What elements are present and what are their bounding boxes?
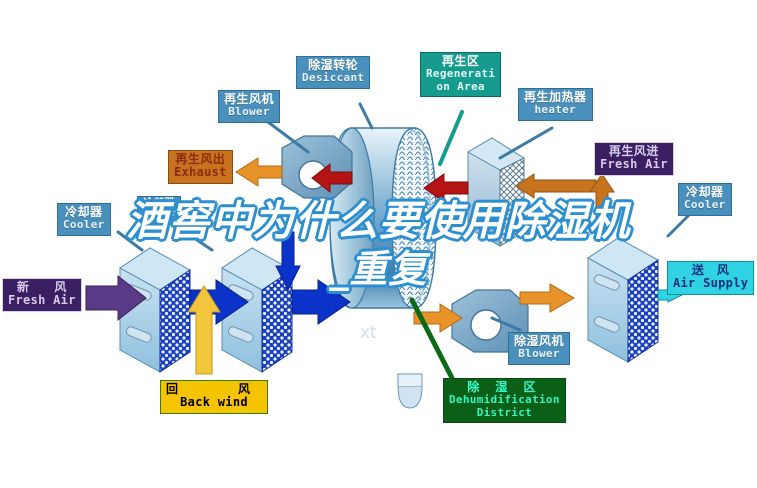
label-regeneration-heater[interactable]: 再生加热器 heater xyxy=(518,88,593,121)
label-dehumidification-blower[interactable]: 除湿风机 Blower xyxy=(508,332,570,365)
label-regeneration-exhaust[interactable]: 再生风出 Exhaust xyxy=(168,150,233,184)
label-cooler-left-2[interactable]: 冷却器 Cooler xyxy=(137,196,181,221)
label-back-wind-cn: 回 风 xyxy=(166,383,262,396)
label-cooler-left-1[interactable]: 冷却器 Cooler xyxy=(57,203,111,236)
label-regeneration-area[interactable]: 再生区 Regenerati on Area xyxy=(420,52,501,97)
label-heater-en: heater xyxy=(524,104,587,116)
label-exhaust-en: Exhaust xyxy=(174,166,227,179)
label-dehum-cn: 除 湿 区 xyxy=(449,381,560,394)
label-regeneration-fresh-air[interactable]: 再生风进 Fresh Air xyxy=(594,142,674,176)
label-regen-area-en2: on Area xyxy=(426,81,495,93)
label-supply-cn: 送 风 xyxy=(673,264,748,277)
label-regen-area-cn: 再生区 xyxy=(426,55,495,68)
label-regeneration-blower[interactable]: 再生风机 Blower xyxy=(218,90,280,123)
leader-cooler-left1 xyxy=(118,232,142,250)
leader-regen-area xyxy=(440,112,462,164)
arrow-fresh-air-to-heater xyxy=(516,174,596,198)
dehumidifier-schematic: xt xyxy=(0,0,757,488)
label-fresh-air-en: Fresh Air xyxy=(8,294,76,307)
label-desiccant-wheel[interactable]: 除湿转轮 Desiccant xyxy=(296,56,370,89)
supply-cooler-unit xyxy=(588,238,658,362)
label-dehum-blower-cn: 除湿风机 xyxy=(514,335,564,348)
label-exhaust-cn: 再生风出 xyxy=(174,153,227,166)
label-back-wind[interactable]: 回 风 Back wind xyxy=(160,380,268,414)
label-dehum-en2: District xyxy=(449,407,560,419)
diagram-canvas: xt xyxy=(0,0,757,488)
label-cooler-right[interactable]: 冷却器 Cooler xyxy=(678,183,732,216)
leader-heater xyxy=(500,128,552,158)
watermark-text: xt xyxy=(360,323,377,343)
regeneration-blower xyxy=(282,136,352,198)
label-fresh-air-inlet[interactable]: 新 风 Fresh Air xyxy=(2,278,82,312)
label-regen-fresh-cn: 再生风进 xyxy=(600,145,668,158)
label-regen-area-en1: Regenerati xyxy=(426,68,495,80)
label-cooler-right-cn: 冷却器 xyxy=(684,186,726,199)
label-dehumidification-district[interactable]: 除 湿 区 Dehumidification District xyxy=(443,378,566,423)
leader-cooler-left2 xyxy=(176,226,212,250)
label-fresh-air-cn: 新 风 xyxy=(8,281,76,294)
regeneration-heater xyxy=(468,138,524,246)
arrow-exhaust xyxy=(236,158,282,186)
label-regen-fresh-en: Fresh Air xyxy=(600,158,668,171)
label-cooler-right-en: Cooler xyxy=(684,199,726,211)
label-heater-cn: 再生加热器 xyxy=(524,91,587,104)
label-cooler-left2-cn: 冷却器 xyxy=(142,198,176,209)
label-dehum-en1: Dehumidification xyxy=(449,394,560,406)
label-regen-blower-cn: 再生风机 xyxy=(224,93,274,106)
label-desiccant-en: Desiccant xyxy=(302,72,364,84)
label-regen-blower-en: Blower xyxy=(224,106,274,118)
label-back-wind-en: Back wind xyxy=(166,396,262,409)
label-cooler-left2-en: Cooler xyxy=(142,209,176,219)
label-cooler-left1-en: Cooler xyxy=(63,219,105,231)
label-desiccant-cn: 除湿转轮 xyxy=(302,59,364,72)
label-supply-en: Air Supply xyxy=(673,277,748,290)
label-cooler-left1-cn: 冷却器 xyxy=(63,206,105,219)
leader-desiccant xyxy=(360,104,372,128)
label-dehum-blower-en: Blower xyxy=(514,348,564,360)
label-air-supply[interactable]: 送 风 Air Supply xyxy=(667,261,754,295)
